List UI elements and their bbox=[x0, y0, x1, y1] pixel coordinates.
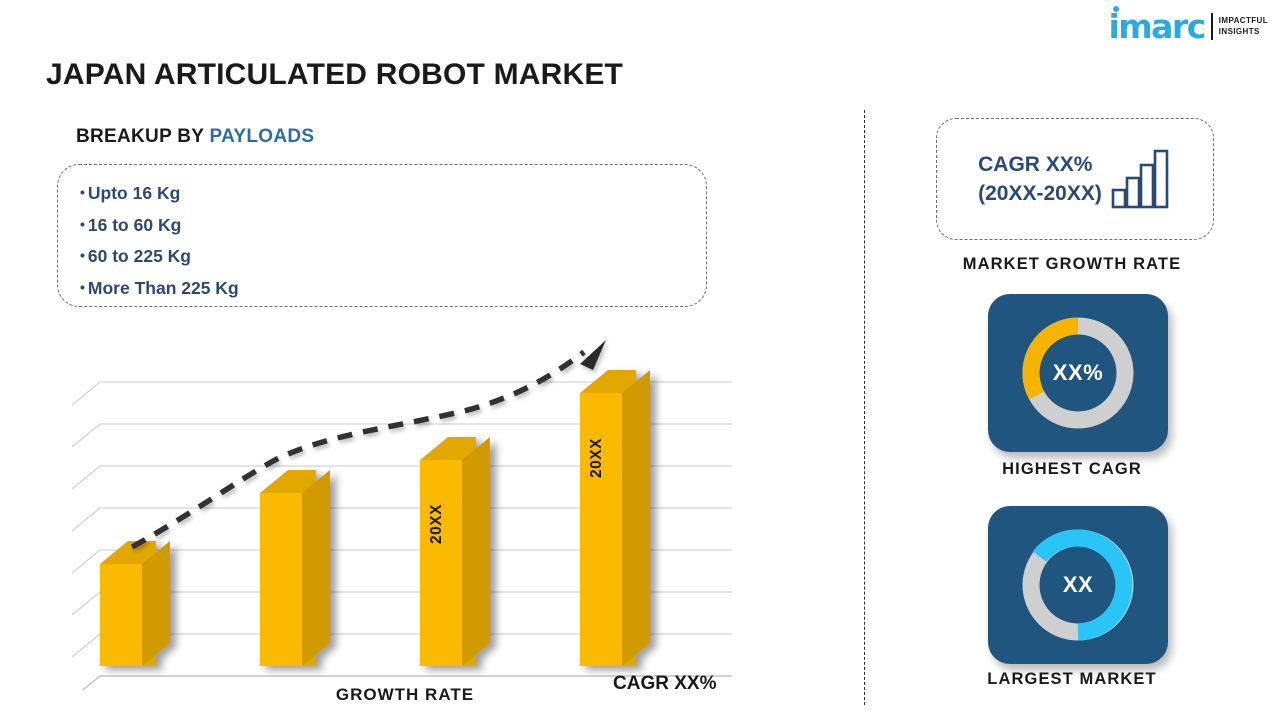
page-subtitle: BREAKUP BY PAYLOADS bbox=[76, 126, 314, 148]
vertical-divider bbox=[864, 110, 865, 705]
caption-largest-market: LARGEST MARKET bbox=[864, 670, 1280, 689]
chart-x-axis-label: GROWTH RATE bbox=[60, 685, 750, 705]
logo-divider-bar bbox=[1211, 13, 1213, 40]
bar-column bbox=[580, 370, 650, 666]
logo-wordmark: imarc bbox=[1108, 10, 1204, 43]
cagr-summary-text: CAGR XX% (20XX-20XX) bbox=[978, 150, 1102, 208]
caption-market-growth-rate: MARKET GROWTH RATE bbox=[864, 255, 1280, 274]
chart-svg bbox=[60, 330, 750, 690]
bullet-icon: • bbox=[80, 279, 88, 295]
bullet-icon: • bbox=[80, 247, 88, 263]
subtitle-prefix: BREAKUP BY bbox=[76, 126, 210, 147]
subtitle-highlight: PAYLOADS bbox=[210, 126, 315, 147]
bullet-icon: • bbox=[80, 216, 88, 232]
list-item-label: 60 to 225 Kg bbox=[88, 246, 191, 266]
logo-word-text: imarc bbox=[1108, 7, 1204, 46]
cagr-summary-box: CAGR XX% (20XX-20XX) bbox=[936, 118, 1214, 240]
bar-year-label: 20XX bbox=[588, 438, 606, 478]
imarc-logo: imarc IMPACTFUL INSIGHTS bbox=[1108, 10, 1268, 43]
caption-highest-cagr: HIGHEST CAGR bbox=[864, 460, 1280, 479]
list-item-label: 16 to 60 Kg bbox=[88, 215, 181, 235]
logo-tagline-line2: INSIGHTS bbox=[1219, 27, 1268, 38]
list-item: •More Than 225 Kg bbox=[80, 273, 706, 305]
logo-tagline-line1: IMPACTFUL bbox=[1219, 16, 1268, 27]
payload-list-box: •Upto 16 Kg •16 to 60 Kg •60 to 225 Kg •… bbox=[57, 164, 707, 307]
list-item-label: More Than 225 Kg bbox=[88, 278, 239, 298]
largest-market-card: XX bbox=[988, 506, 1168, 664]
largest-market-value: XX bbox=[988, 572, 1168, 598]
infographic-page: imarc IMPACTFUL INSIGHTS JAPAN ARTICULAT… bbox=[0, 0, 1280, 720]
highest-cagr-card: XX% bbox=[988, 294, 1168, 452]
bar-chart-icon bbox=[1110, 148, 1172, 210]
bar-column bbox=[260, 470, 330, 666]
highest-cagr-value: XX% bbox=[988, 360, 1168, 386]
bar-year-label: 20XX bbox=[428, 504, 446, 544]
cagr-line1: CAGR XX% bbox=[978, 150, 1102, 179]
bar-column bbox=[420, 437, 490, 666]
list-item: •60 to 225 Kg bbox=[80, 241, 706, 273]
page-title: JAPAN ARTICULATED ROBOT MARKET bbox=[46, 58, 623, 92]
list-item: •Upto 16 Kg bbox=[80, 178, 706, 210]
bullet-icon: • bbox=[80, 184, 88, 200]
bar-column bbox=[100, 541, 170, 666]
trend-line bbox=[132, 340, 606, 547]
logo-tagline: IMPACTFUL INSIGHTS bbox=[1219, 16, 1268, 38]
cagr-line2: (20XX-20XX) bbox=[978, 179, 1102, 208]
growth-rate-chart: 20XX 20XX CAGR XX% GROWTH RATE bbox=[60, 330, 750, 720]
list-item: •16 to 60 Kg bbox=[80, 210, 706, 242]
list-item-label: Upto 16 Kg bbox=[88, 183, 180, 203]
